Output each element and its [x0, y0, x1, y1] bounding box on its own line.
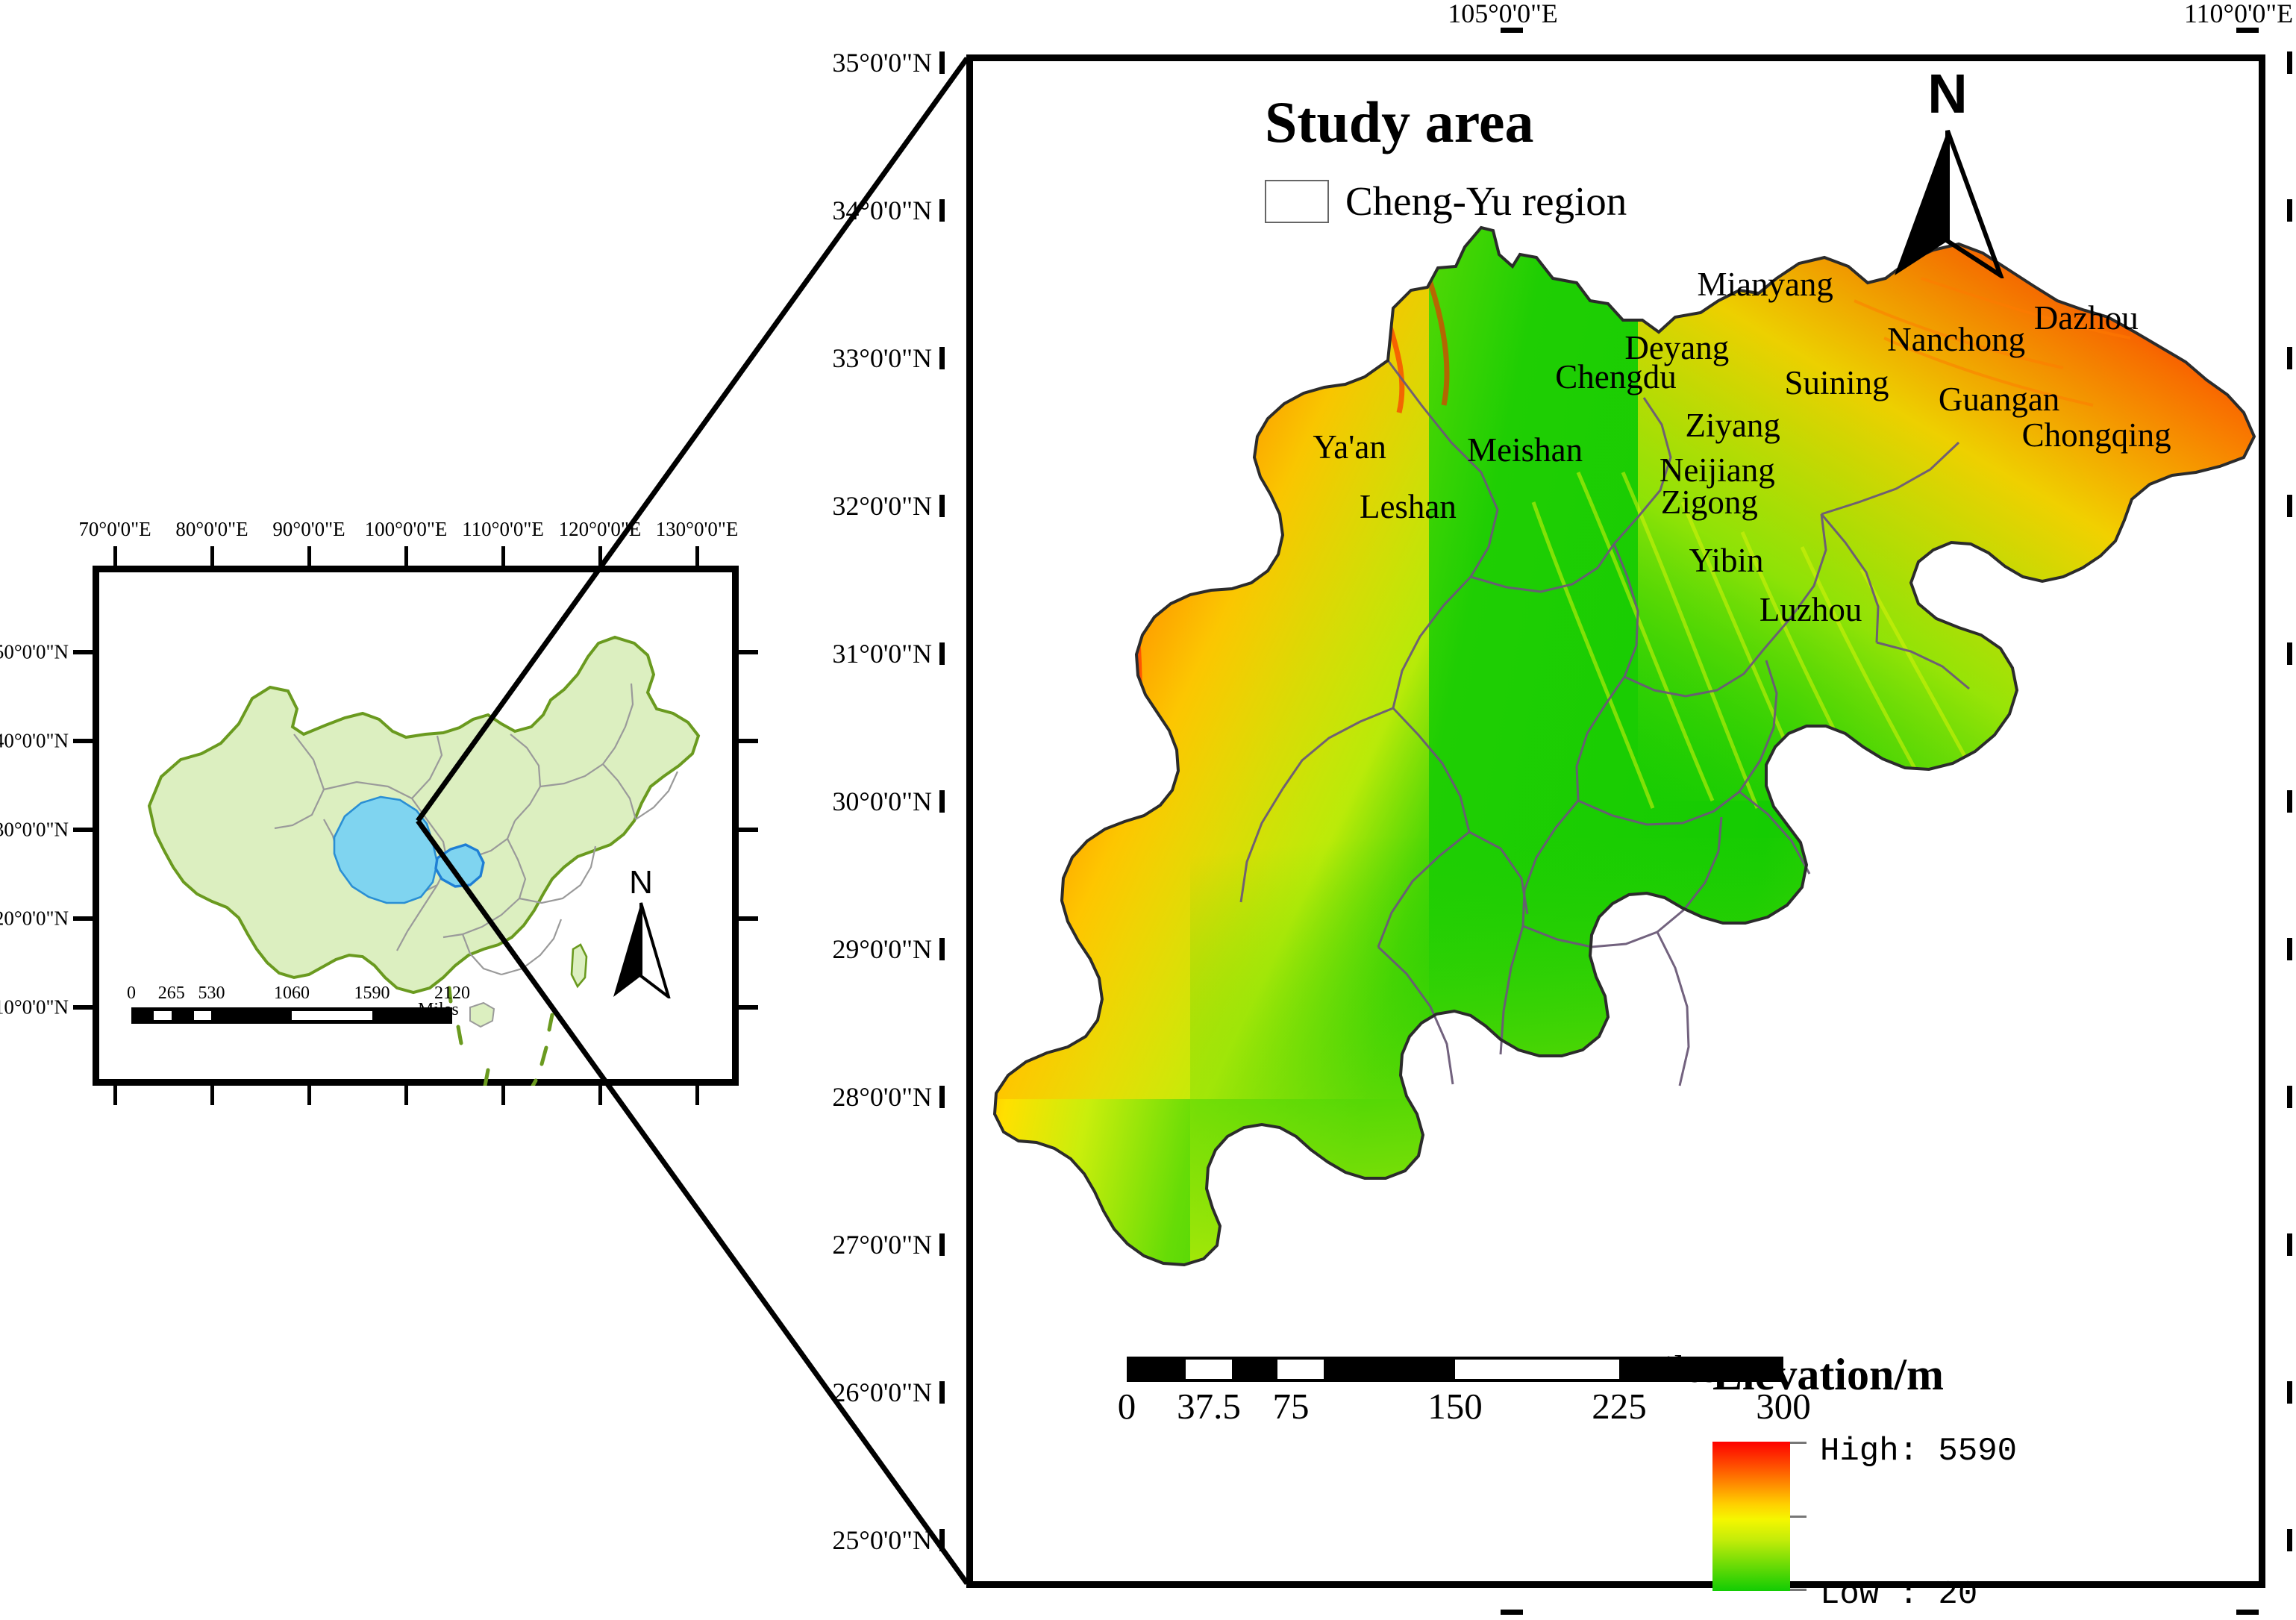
lat-tick-28 [939, 1086, 945, 1108]
inset-lon-label-70: 70°0'0"E [78, 518, 151, 541]
lat-tick-r-26 [2287, 1381, 2292, 1404]
scale-label-0: 0 [1118, 1385, 1136, 1427]
inset-lon-tick-b-110 [501, 1086, 505, 1105]
inset-lat-label-40: 40°0'0"N [0, 730, 69, 753]
inset-lon-tick-b-90 [307, 1086, 311, 1105]
lat-label-25: 25°0'0"N [832, 1524, 932, 1556]
scale-label-375: 37.5 [1177, 1385, 1241, 1427]
map-legend: Cheng-Yu region [1265, 178, 1627, 225]
lat-label-32: 32°0'0"N [832, 490, 932, 522]
city-label-suining: Suining [1784, 363, 1889, 402]
inset-map-china: 70°0'0"E 80°0'0"E 90°0'0"E 100°0'0"E 110… [93, 566, 739, 1086]
north-arrow: N [1884, 62, 2011, 278]
lat-label-29: 29°0'0"N [832, 933, 932, 965]
inset-north-arrow: N [607, 864, 675, 998]
scale-label-75: 75 [1273, 1385, 1310, 1427]
lat-tick-35 [939, 51, 945, 74]
main-map-cheng-yu: Mianyang Deyang Nanchong Dazhou Chengdu … [966, 54, 2265, 1588]
taiwan-island [572, 945, 586, 986]
inset-lon-label-130: 130°0'0"E [656, 518, 739, 541]
city-label-yibin: Yibin [1689, 541, 1763, 580]
inset-lat-tick-r-20 [739, 916, 758, 921]
elevation-high-label: High: 5590 [1820, 1433, 2017, 1470]
legend-label-cheng-yu: Cheng-Yu region [1345, 178, 1627, 225]
inset-lat-tick-r-40 [739, 739, 758, 743]
inset-lat-tick-50 [73, 650, 93, 654]
inset-lon-tick-b-70 [113, 1086, 117, 1105]
city-label-zigong: Zigong [1661, 483, 1758, 522]
inset-lon-tick-b-80 [210, 1086, 214, 1105]
scale-label-150: 150 [1427, 1385, 1483, 1427]
inset-lat-label-30: 30°0'0"N [0, 819, 69, 842]
lat-tick-30 [939, 790, 945, 813]
inset-lat-tick-30 [73, 828, 93, 832]
lon-tick-b-105 [1501, 1610, 1523, 1615]
inset-north-arrow-letter: N [629, 864, 653, 901]
city-label-leshan: Leshan [1360, 487, 1457, 526]
elevation-legend: Elevation/m High: 5590 Low : 20 [1712, 1349, 2066, 1591]
lat-tick-r-28 [2287, 1086, 2292, 1108]
city-label-luzhou: Luzhou [1759, 590, 1862, 629]
lat-tick-r-32 [2287, 495, 2292, 517]
inset-lat-tick-40 [73, 739, 93, 743]
inset-lon-tick-80 [210, 546, 214, 566]
hainan-island [470, 1003, 494, 1027]
lat-tick-r-25 [2287, 1529, 2292, 1551]
lat-tick-r-29 [2287, 938, 2292, 960]
lat-tick-r-30 [2287, 790, 2292, 813]
inset-lat-tick-r-30 [739, 828, 758, 832]
lat-tick-r-31 [2287, 642, 2292, 665]
lat-label-31: 31°0'0"N [832, 638, 932, 669]
legend-swatch-cheng-yu [1265, 180, 1329, 223]
city-label-chongqing: Chongqing [2022, 416, 2171, 454]
inset-lon-tick-120 [598, 546, 602, 566]
inset-scale-bar-graphic [131, 1007, 452, 1024]
city-label-guangan: Guangan [1939, 380, 2059, 419]
lat-tick-r-34 [2287, 199, 2292, 222]
inset-lon-tick-90 [307, 546, 311, 566]
elevation-low-label: Low : 20 [1820, 1576, 1977, 1613]
inset-lon-tick-b-100 [404, 1086, 408, 1105]
inset-lon-label-110: 110°0'0"E [462, 518, 544, 541]
lat-tick-26 [939, 1381, 945, 1404]
city-label-yaan: Ya'an [1313, 428, 1386, 466]
lat-label-35: 35°0'0"N [832, 47, 932, 78]
lat-label-33: 33°0'0"N [832, 343, 932, 374]
inset-lon-tick-130 [695, 546, 699, 566]
page-title: Study area [1265, 89, 1533, 156]
inset-lon-tick-110 [501, 546, 505, 566]
inset-lon-tick-b-120 [598, 1086, 602, 1105]
inset-scale-label-0: 0 [127, 983, 136, 1004]
elevation-ramp-ticks [1790, 1442, 1807, 1591]
lon-label-110: 110°0'0"E [2184, 0, 2293, 29]
city-label-nanchong: Nanchong [1887, 320, 2025, 359]
city-label-ziyang: Ziyang [1685, 406, 1780, 445]
inset-lat-label-50: 50°0'0"N [0, 641, 69, 664]
city-label-dazhou: Dazhou [2034, 298, 2139, 337]
inset-scale-bar-labels: 0 265 530 1060 1590 2120 [131, 983, 452, 1006]
inset-lat-label-10: 10°0'0"N [0, 996, 69, 1019]
lat-tick-27 [939, 1233, 945, 1256]
inset-lat-tick-20 [73, 916, 93, 921]
inset-scale-label-530: 530 [198, 983, 225, 1004]
north-arrow-letter: N [1927, 62, 1967, 125]
inset-scale-label-1590: 1590 [354, 983, 390, 1004]
lat-label-30: 30°0'0"N [832, 786, 932, 817]
lon-tick-b-110 [2236, 1610, 2259, 1615]
inset-lat-tick-r-50 [739, 650, 758, 654]
inset-lon-label-90: 90°0'0"E [272, 518, 345, 541]
inset-scale-bar-unit: Miles [418, 1000, 459, 1020]
lat-tick-33 [939, 347, 945, 369]
inset-scale-label-1060: 1060 [274, 983, 310, 1004]
lat-tick-32 [939, 495, 945, 517]
lat-tick-31 [939, 642, 945, 665]
inset-lat-tick-r-10 [739, 1005, 758, 1010]
elevation-legend-title: Elevation/m [1712, 1349, 2066, 1401]
lat-label-26: 26°0'0"N [832, 1377, 932, 1408]
lat-tick-r-27 [2287, 1233, 2292, 1256]
inset-scale-bar: 0 265 530 1060 1590 2120 [131, 983, 452, 1024]
lat-tick-29 [939, 938, 945, 960]
inset-lon-tick-70 [113, 546, 117, 566]
inset-lon-label-80: 80°0'0"E [175, 518, 248, 541]
lat-label-34: 34°0'0"N [832, 195, 932, 226]
elevation-color-ramp [1712, 1442, 1790, 1591]
scale-bar-unit: Miles [1629, 1348, 1717, 1392]
inset-lon-label-100: 100°0'0"E [365, 518, 448, 541]
city-label-chengdu: Chengdu [1555, 357, 1677, 396]
lat-label-27: 27°0'0"N [832, 1229, 932, 1260]
inset-lon-label-120: 120°0'0"E [559, 518, 642, 541]
lat-tick-34 [939, 199, 945, 222]
city-label-meishan: Meishan [1467, 431, 1583, 469]
inset-scale-label-265: 265 [158, 983, 185, 1004]
inset-lon-tick-100 [404, 546, 408, 566]
inset-lat-tick-10 [73, 1005, 93, 1010]
lat-tick-r-35 [2287, 51, 2292, 74]
lat-tick-25 [939, 1529, 945, 1551]
inset-lat-label-20: 20°0'0"N [0, 907, 69, 931]
city-label-mianyang: Mianyang [1697, 265, 1833, 304]
lat-label-28: 28°0'0"N [832, 1081, 932, 1113]
lat-tick-r-33 [2287, 347, 2292, 369]
inset-lon-tick-b-130 [695, 1086, 699, 1105]
lon-label-105: 105°0'0"E [1448, 0, 1558, 29]
